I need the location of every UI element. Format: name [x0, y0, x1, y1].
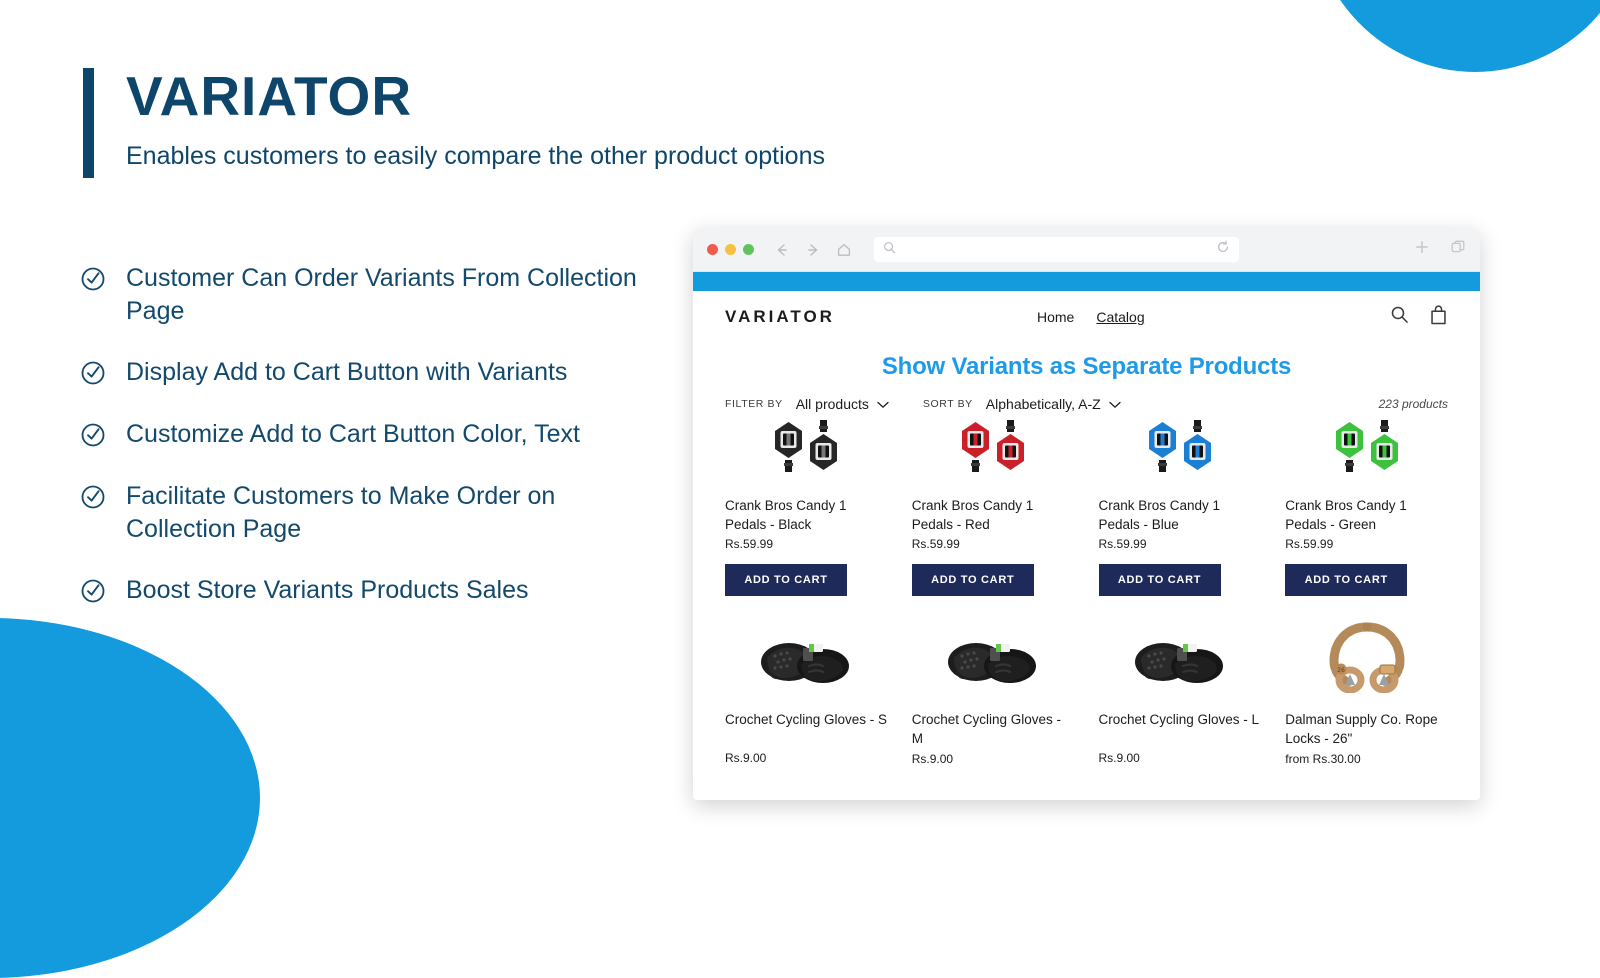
product-image-rope-locks: 26: [1285, 614, 1448, 700]
product-grid-row-2: Crochet Cycling Gloves - S Rs.9.00: [693, 614, 1480, 765]
product-title: Crank Bros Candy 1 Pedals - Black: [725, 496, 888, 534]
home-icon[interactable]: [836, 242, 852, 258]
window-controls[interactable]: [707, 244, 754, 255]
minimize-window-button[interactable]: [725, 244, 736, 255]
product-image-gloves-s: [725, 614, 888, 700]
add-to-cart-button[interactable]: ADD TO CART: [725, 564, 847, 596]
reload-icon[interactable]: [1216, 240, 1230, 259]
product-card[interactable]: Crank Bros Candy 1 Pedals - Red Rs.59.99…: [912, 408, 1075, 596]
product-card[interactable]: Crank Bros Candy 1 Pedals - Blue Rs.59.9…: [1099, 408, 1262, 596]
product-price: Rs.59.99: [725, 537, 888, 551]
product-price: Rs.59.99: [1285, 537, 1448, 551]
product-card[interactable]: Crank Bros Candy 1 Pedals - Green Rs.59.…: [1285, 408, 1448, 596]
store-logo[interactable]: VARIATOR: [725, 307, 835, 327]
product-card[interactable]: Crochet Cycling Gloves - S Rs.9.00: [725, 614, 888, 765]
page-title: VARIATOR: [126, 68, 825, 126]
product-card[interactable]: Crochet Cycling Gloves - M Rs.9.00: [912, 614, 1075, 765]
check-circle-icon: [80, 484, 110, 514]
add-to-cart-button[interactable]: ADD TO CART: [912, 564, 1034, 596]
product-price: Rs.59.99: [912, 537, 1075, 551]
check-circle-icon: [80, 266, 110, 296]
product-title: Crank Bros Candy 1 Pedals - Green: [1285, 496, 1448, 534]
product-price: Rs.9.00: [912, 752, 1075, 766]
store-nav: Home Catalog: [1037, 309, 1145, 325]
tabs-icon[interactable]: [1450, 239, 1466, 260]
marketing-panel: VARIATOR Enables customers to easily com…: [0, 0, 690, 900]
product-title: Crank Bros Candy 1 Pedals - Blue: [1099, 496, 1262, 534]
store-announcement-bar: [693, 272, 1480, 291]
check-circle-icon: [80, 360, 110, 390]
plus-icon[interactable]: [1414, 239, 1430, 260]
promo-banner: Show Variants as Separate Products: [693, 343, 1480, 385]
product-price: Rs.59.99: [1099, 537, 1262, 551]
decorative-blob-top-right: [1310, 0, 1600, 72]
product-image-pedals-black: [725, 408, 888, 486]
cart-icon[interactable]: [1429, 305, 1448, 330]
search-icon: [883, 241, 896, 259]
list-item-label: Facilitate Customers to Make Order on Co…: [126, 480, 656, 546]
list-item: Facilitate Customers to Make Order on Co…: [80, 480, 680, 546]
product-image-gloves-l: [1099, 614, 1262, 700]
list-item: Boost Store Variants Products Sales: [80, 574, 680, 608]
list-item: Customer Can Order Variants From Collect…: [80, 262, 680, 328]
product-grid-row-1: Crank Bros Candy 1 Pedals - Black Rs.59.…: [693, 408, 1480, 596]
list-item-label: Display Add to Cart Button with Variants: [126, 356, 567, 389]
list-item: Customize Add to Cart Button Color, Text: [80, 418, 680, 452]
list-item: Display Add to Cart Button with Variants: [80, 356, 680, 390]
svg-text:26: 26: [1337, 667, 1345, 674]
browser-chrome: [693, 228, 1480, 272]
product-title: Crochet Cycling Gloves - S: [725, 710, 888, 748]
check-circle-icon: [80, 422, 110, 452]
product-price: Rs.9.00: [725, 751, 888, 765]
product-price: Rs.9.00: [1099, 751, 1262, 765]
product-card[interactable]: 26 Dalman Supply Co. Rope Locks - 26" fr…: [1285, 614, 1448, 765]
product-image-gloves-m: [912, 614, 1075, 700]
page-subtitle: Enables customers to easily compare the …: [126, 142, 825, 171]
list-item-label: Customize Add to Cart Button Color, Text: [126, 418, 580, 451]
hero-title-block: VARIATOR Enables customers to easily com…: [83, 68, 825, 178]
add-to-cart-button[interactable]: ADD TO CART: [1285, 564, 1407, 596]
product-price: from Rs.30.00: [1285, 752, 1448, 766]
product-image-pedals-blue: [1099, 408, 1262, 486]
maximize-window-button[interactable]: [743, 244, 754, 255]
product-title: Crochet Cycling Gloves - M: [912, 710, 1075, 748]
close-window-button[interactable]: [707, 244, 718, 255]
product-title: Crochet Cycling Gloves - L: [1099, 710, 1262, 748]
nav-item-catalog[interactable]: Catalog: [1096, 309, 1144, 325]
list-item-label: Boost Store Variants Products Sales: [126, 574, 529, 607]
product-image-pedals-red: [912, 408, 1075, 486]
product-card[interactable]: Crank Bros Candy 1 Pedals - Black Rs.59.…: [725, 408, 888, 596]
feature-list: Customer Can Order Variants From Collect…: [80, 262, 680, 636]
check-circle-icon: [80, 578, 110, 608]
accent-bar: [83, 68, 94, 178]
url-bar[interactable]: [874, 237, 1239, 262]
add-to-cart-button[interactable]: ADD TO CART: [1099, 564, 1221, 596]
store-header: VARIATOR Home Catalog: [693, 291, 1480, 343]
browser-window: VARIATOR Home Catalog Show Variants as S…: [693, 228, 1480, 800]
search-icon[interactable]: [1390, 305, 1409, 329]
product-title: Crank Bros Candy 1 Pedals - Red: [912, 496, 1075, 534]
product-card[interactable]: Crochet Cycling Gloves - L Rs.9.00: [1099, 614, 1262, 765]
product-image-pedals-green: [1285, 408, 1448, 486]
back-arrow-icon[interactable]: [774, 242, 790, 258]
nav-item-home[interactable]: Home: [1037, 309, 1074, 325]
product-title: Dalman Supply Co. Rope Locks - 26": [1285, 710, 1448, 748]
list-item-label: Customer Can Order Variants From Collect…: [126, 262, 656, 328]
forward-arrow-icon[interactable]: [805, 242, 821, 258]
